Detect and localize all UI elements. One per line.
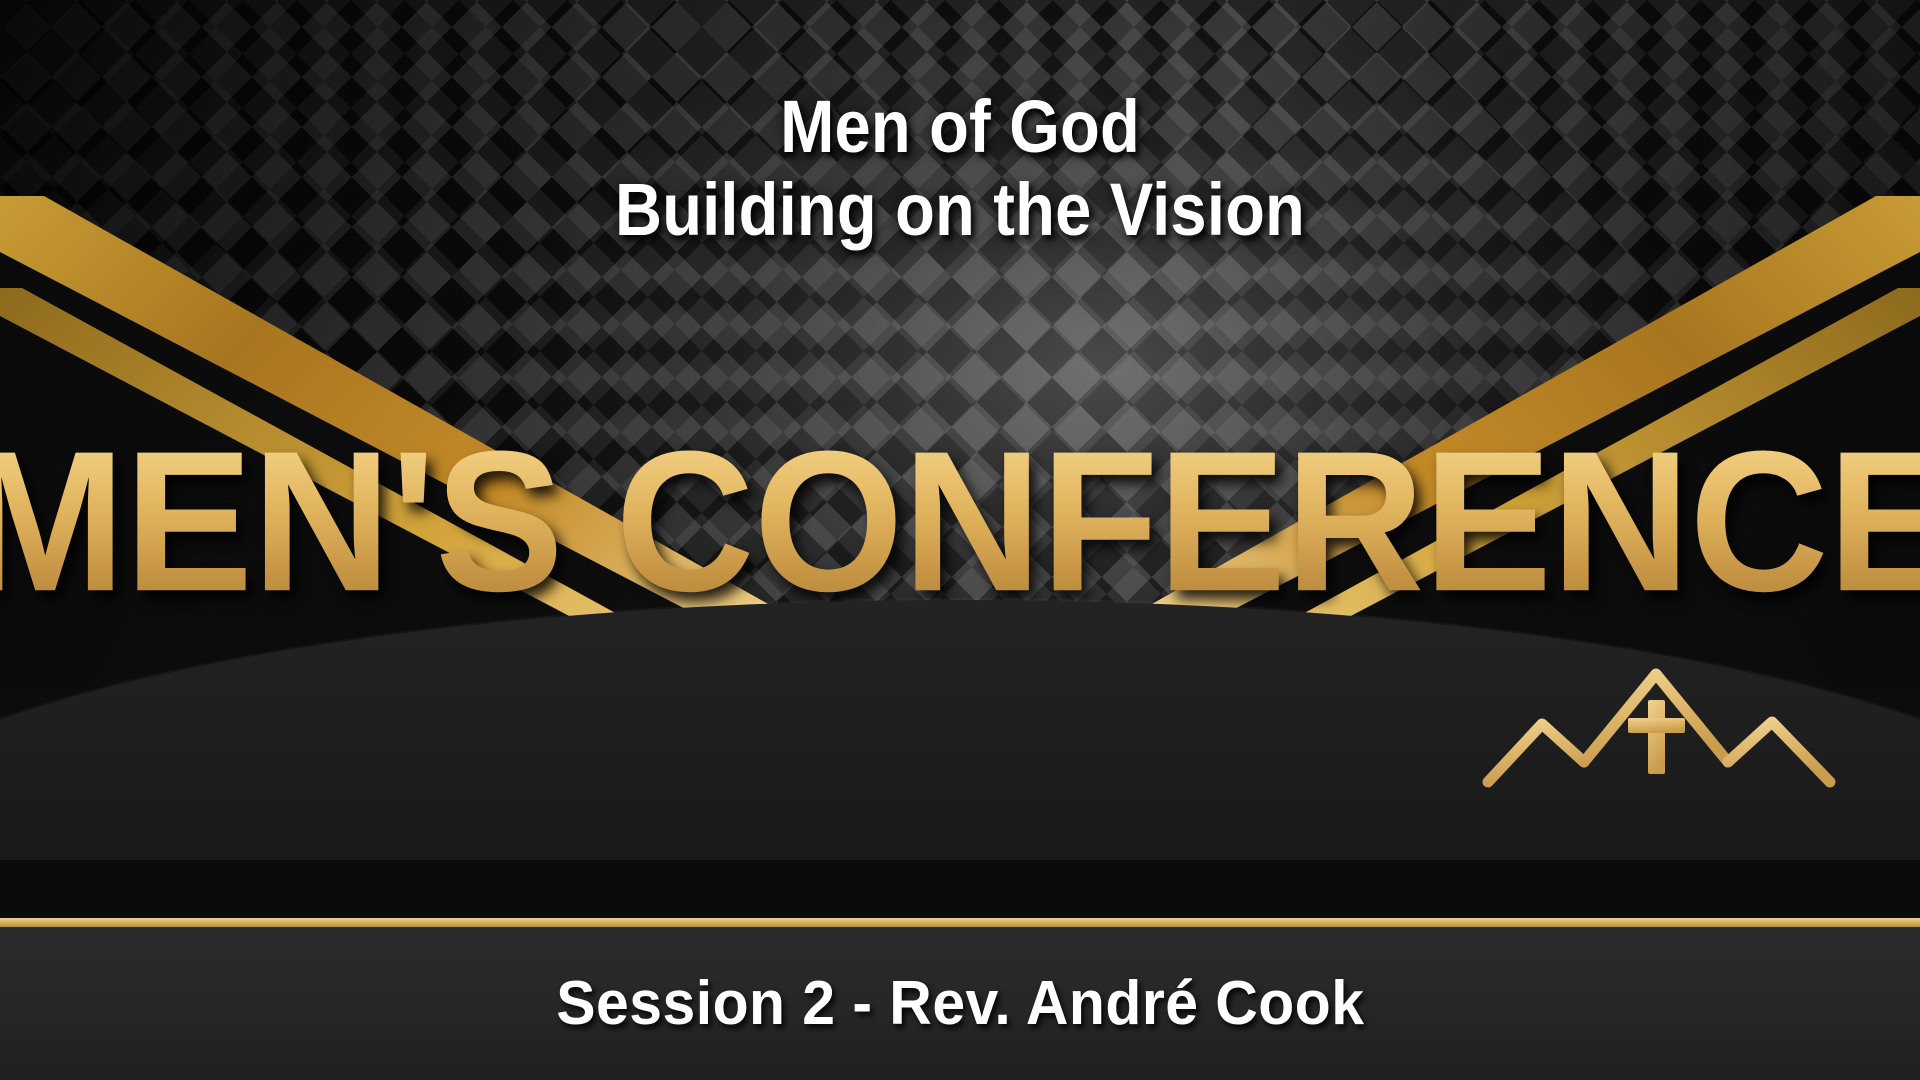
mountain-cross-logo [1480, 650, 1840, 790]
title-slide: Men of God Building on the Vision MEN'S … [0, 0, 1920, 1080]
session-banner-text: Session 2 - Rev. André Cook [556, 968, 1364, 1039]
cross-icon [1628, 700, 1685, 774]
bottom-curve-cover [0, 860, 1920, 920]
conference-wordmark: MEN'S CONFERENCE [0, 421, 1920, 621]
session-banner: Session 2 - Rev. André Cook [0, 927, 1920, 1080]
page-title: Men of God Building on the Vision [115, 86, 1805, 252]
gold-divider-rule [0, 918, 1920, 927]
